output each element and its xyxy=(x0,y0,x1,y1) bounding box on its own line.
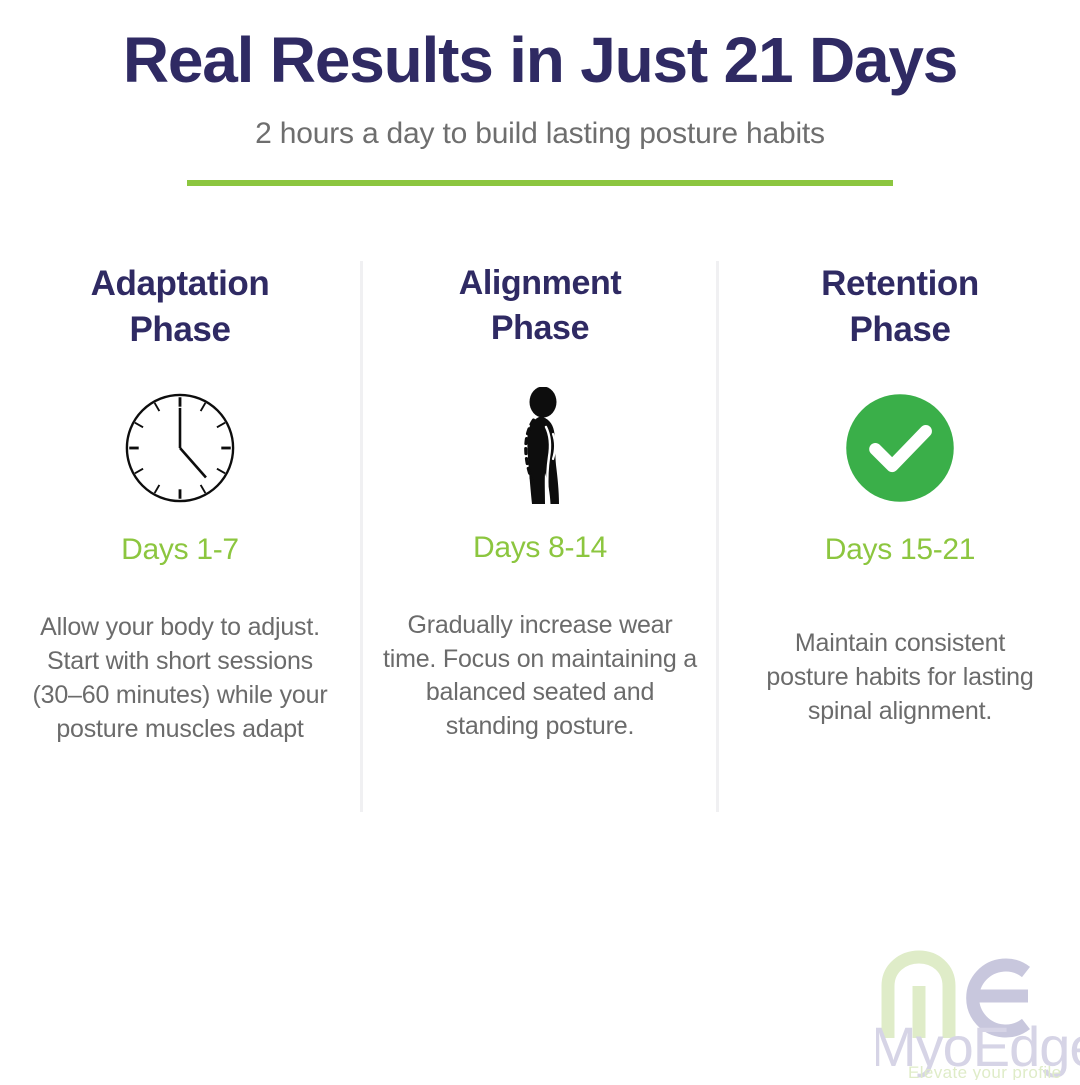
header: Real Results in Just 21 Days 2 hours a d… xyxy=(0,0,1080,151)
myoedge-logo-watermark: MyoEdge Elevate your profile xyxy=(876,938,1080,1080)
phase-days: Days 15-21 xyxy=(742,533,1058,567)
page-title: Real Results in Just 21 Days xyxy=(0,0,1080,95)
phase-card-adaptation: Adaptation Phase xyxy=(0,261,360,813)
phase-title: Retention Phase xyxy=(742,261,1058,353)
posture-person-icon xyxy=(382,373,698,523)
phase-description: Allow your body to adjust. Start with sh… xyxy=(22,611,338,746)
phase-card-retention: Retention Phase Days 15-21 Maintain cons… xyxy=(720,261,1080,813)
logo-tagline-text: Elevate your profile xyxy=(908,1063,1062,1080)
phase-days: Days 8-14 xyxy=(382,531,698,565)
phase-description: Maintain consistent posture habits for l… xyxy=(742,627,1058,728)
phase-title: Adaptation Phase xyxy=(22,261,338,353)
check-circle-icon xyxy=(742,373,1058,523)
phase-card-alignment: Alignment Phase Days 8-14 Gradually incr… xyxy=(360,261,720,813)
clock-icon xyxy=(22,373,338,523)
accent-underline xyxy=(187,180,893,186)
phase-description: Gradually increase wear time. Focus on m… xyxy=(382,609,698,744)
phase-title: Alignment Phase xyxy=(382,261,698,351)
phase-columns: Adaptation Phase xyxy=(0,261,1080,813)
phase-days: Days 1-7 xyxy=(22,533,338,567)
page-subtitle: 2 hours a day to build lasting posture h… xyxy=(0,95,1080,151)
